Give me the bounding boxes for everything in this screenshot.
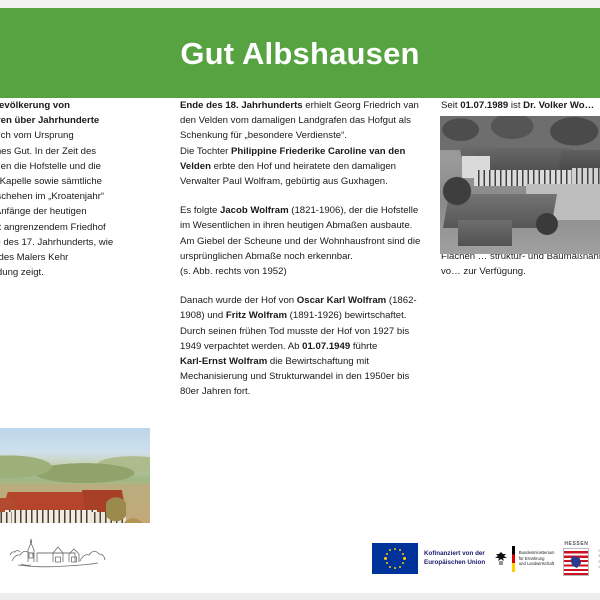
text-run: Seit bbox=[441, 100, 460, 111]
eu-star-icon bbox=[394, 567, 396, 569]
aerial-tree bbox=[534, 212, 560, 236]
page-title: Gut Albshausen bbox=[180, 38, 419, 69]
text-run: …gsgeschehen im „Kroatenjahr“ bbox=[0, 191, 104, 202]
hessen-wordmark: HESSEN bbox=[564, 541, 588, 547]
bold-text-run: Jacob Wolfram bbox=[220, 205, 289, 216]
funding-logos: Kofinanziert von der Europäischen Union … bbox=[372, 541, 600, 576]
bold-text-run: 01.07.1949 bbox=[302, 341, 350, 352]
paragraph: Danach wurde der Hof von Oscar Karl Wolf… bbox=[180, 293, 422, 399]
bold-text-run: Dr. Volker Wo… bbox=[523, 100, 594, 111]
eu-star-icon bbox=[389, 549, 391, 551]
poster-page: Gut Albshausen …die Bevölkerung von…n wa… bbox=[0, 0, 600, 600]
eu-star-icon bbox=[386, 562, 388, 564]
text-run: Die Tochter bbox=[180, 146, 231, 157]
text-run: … Ende des 17. Jahrhunderts, wie bbox=[0, 237, 113, 248]
bold-text-run: …n waren über Jahrhunderte bbox=[0, 115, 99, 126]
eu-star-icon bbox=[399, 566, 401, 568]
eu-star-icon bbox=[389, 566, 391, 568]
text-run: …Abbildung zeigt. bbox=[0, 267, 44, 278]
village-sketch-logo-icon bbox=[8, 535, 118, 575]
eu-star-icon bbox=[384, 557, 386, 559]
bold-text-run: …die Bevölkerung von bbox=[0, 100, 70, 111]
text-run: ist bbox=[508, 100, 523, 111]
aerial-roof bbox=[458, 220, 512, 246]
text-run: …delt sich vom Ursprung bbox=[0, 130, 74, 141]
aerial-photo-image bbox=[440, 116, 600, 254]
text-run: führte bbox=[350, 341, 377, 352]
aerial-roof bbox=[559, 150, 600, 170]
text-run: …dene Kapelle sowie sämtliche bbox=[0, 176, 102, 187]
aerial-tree bbox=[440, 176, 474, 206]
bmel-line1: Bundesministerium bbox=[519, 550, 555, 556]
bold-text-run: Oscar Karl Wolfram bbox=[297, 295, 386, 306]
footer-logo-strip: Kofinanziert von der Europäischen Union … bbox=[0, 523, 600, 593]
aerial-halftimber-facade bbox=[572, 168, 600, 184]
bmel-line3: und Landwirtschaft bbox=[519, 561, 555, 567]
hessen-lion-shield-icon bbox=[563, 548, 589, 576]
text-run: Es folgte bbox=[180, 205, 220, 216]
eu-star-icon bbox=[399, 549, 401, 551]
text-run: …räfliches Gut. In der Zeit des bbox=[0, 146, 96, 157]
text-run: Danach wurde der Hof von bbox=[180, 295, 297, 306]
bmel-logo: Bundesministerium für Ernährung und Land… bbox=[494, 546, 554, 572]
eu-flag-icon bbox=[372, 543, 418, 574]
eu-logo-line1: Kofinanziert von der bbox=[424, 550, 485, 558]
eu-star-icon bbox=[386, 553, 388, 555]
aerial-treeline bbox=[440, 116, 600, 150]
bold-text-run: Fritz Wolfram bbox=[226, 310, 287, 321]
federal-eagle-icon bbox=[494, 551, 508, 567]
bmel-logo-text: Bundesministerium für Ernährung und Land… bbox=[519, 550, 555, 567]
text-run: … Die Anfänge der heutigen bbox=[0, 206, 87, 217]
column-middle: Ende des 18. Jahrhunderts erhielt Georg … bbox=[180, 98, 422, 414]
column-left: …die Bevölkerung von…n waren über Jahrhu… bbox=[0, 98, 171, 294]
hessen-lion bbox=[570, 556, 581, 568]
eu-logo-line2: Europäischen Union bbox=[424, 559, 485, 567]
text-run: (s. Abb. rechts von 1952) bbox=[180, 266, 287, 277]
top-gutter bbox=[0, 0, 600, 8]
text-run: …nz mit angrenzendem Friedhof bbox=[0, 222, 106, 233]
bold-text-run: 01.07.1989 bbox=[460, 100, 508, 111]
bold-text-run: Ende des 18. Jahrhunderts bbox=[180, 100, 303, 111]
eu-logo: Kofinanziert von der Europäischen Union bbox=[372, 543, 485, 574]
text-run: …es fielen die Hofstelle und die bbox=[0, 161, 101, 172]
bold-text-run: Karl-Ernst Wolfram bbox=[180, 356, 267, 367]
eu-star-icon bbox=[402, 553, 404, 555]
text-run: erbte den Hof und heiratete den damalige… bbox=[180, 161, 396, 187]
german-flag-bar-icon bbox=[512, 546, 515, 572]
text-run: …ktion des Malers Kehr bbox=[0, 252, 68, 263]
bottom-gutter bbox=[0, 593, 600, 600]
paragraph: Es folgte Jacob Wolfram (1821-1906), der… bbox=[180, 203, 422, 279]
paragraph: Ende des 18. Jahrhunderts erhielt Georg … bbox=[180, 98, 422, 189]
eu-star-icon bbox=[403, 557, 405, 559]
eu-logo-text: Kofinanziert von der Europäischen Union bbox=[424, 550, 485, 566]
hessen-logo: HESSEN bbox=[563, 541, 589, 576]
paragraph: …die Bevölkerung von…n waren über Jahrhu… bbox=[0, 98, 171, 280]
header-band: Gut Albshausen bbox=[0, 8, 600, 98]
eu-star-icon bbox=[394, 548, 396, 550]
eu-star-icon bbox=[402, 562, 404, 564]
content-area: …die Bevölkerung von…n waren über Jahrhu… bbox=[0, 98, 600, 523]
